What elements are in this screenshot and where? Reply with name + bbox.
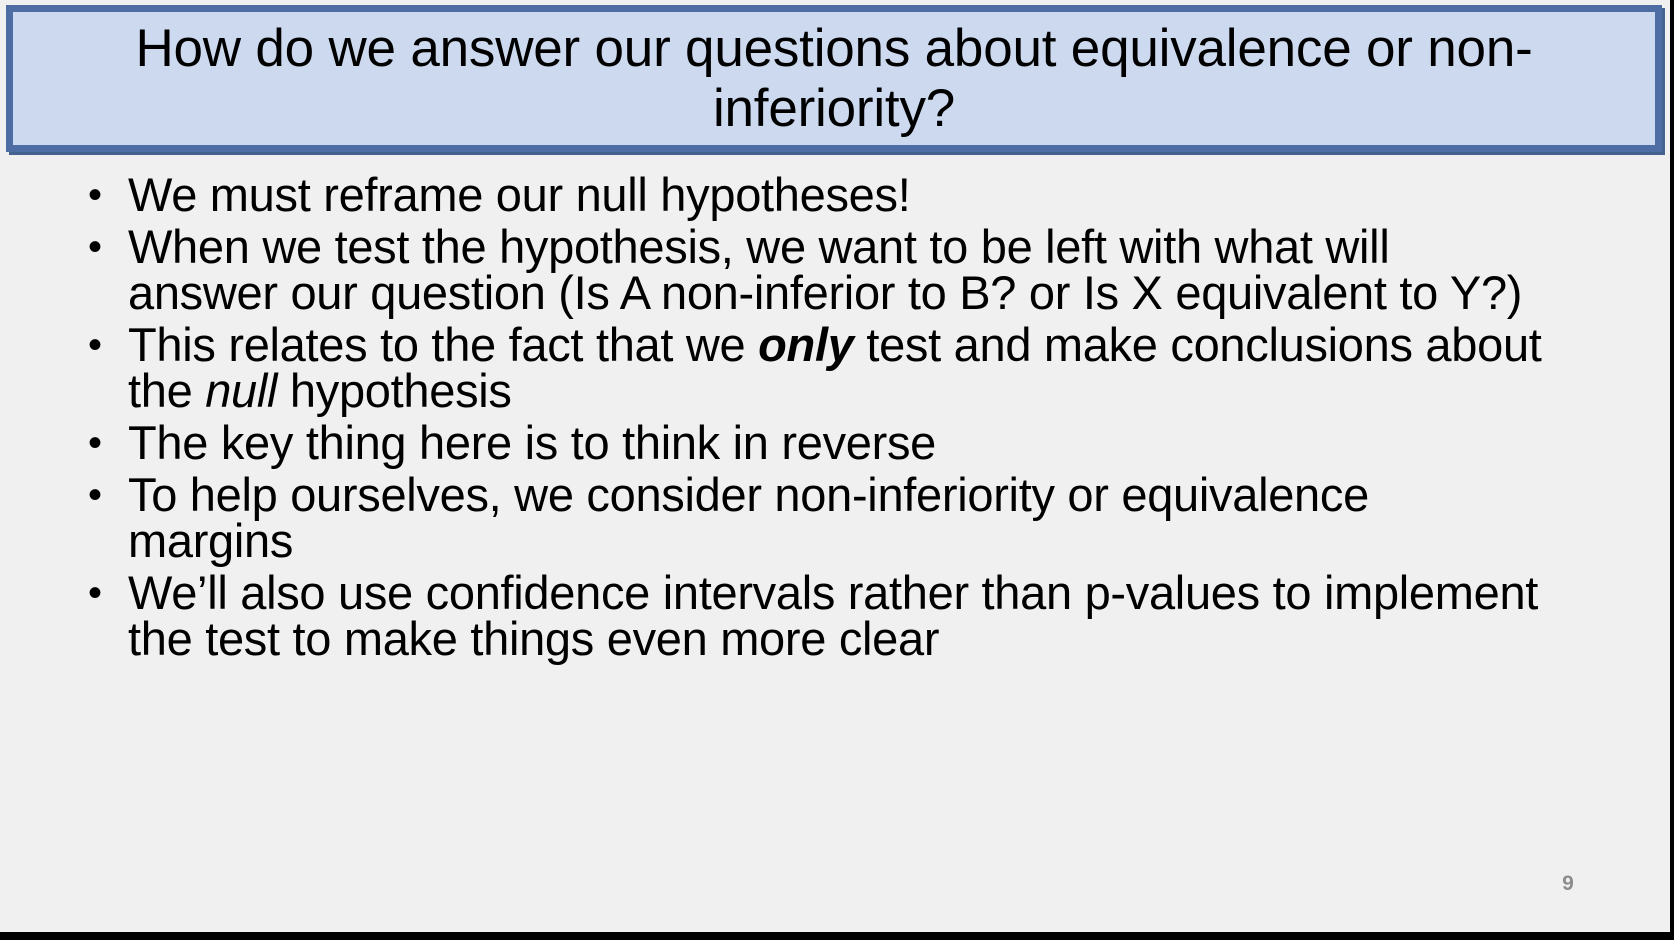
bullet-confidence-intervals: We’ll also use confidence intervals rath…: [128, 570, 1544, 662]
list-item: •The key thing here is to think in rever…: [84, 420, 1544, 466]
bullet-margins: To help ourselves, we consider non-infer…: [128, 472, 1544, 564]
bullet-point-icon: •: [88, 570, 102, 616]
emphasis-bold-italic: only: [758, 318, 853, 371]
bottom-edge-rule: [0, 932, 1674, 940]
slide-title-box: How do we answer our questions about equ…: [6, 5, 1662, 152]
bullet-point-icon: •: [88, 172, 102, 218]
bullet-point-icon: •: [88, 322, 102, 368]
page-number: 9: [1548, 872, 1588, 896]
list-item: •We must reframe our null hypotheses!: [84, 172, 1544, 218]
right-edge-rule: [1670, 0, 1674, 940]
text-run: When we test the hypothesis, we want to …: [128, 220, 1522, 319]
list-item: •To help ourselves, we consider non-infe…: [84, 472, 1544, 564]
bullet-test-hypothesis-left-with: When we test the hypothesis, we want to …: [128, 224, 1544, 316]
list-item: •We’ll also use confidence intervals rat…: [84, 570, 1544, 662]
bullet-think-in-reverse: The key thing here is to think in revers…: [128, 420, 1544, 466]
bullet-point-icon: •: [88, 224, 102, 270]
text-run: We’ll also use confidence intervals rath…: [128, 566, 1538, 665]
text-run: The key thing here is to think in revers…: [128, 416, 936, 469]
emphasis-italic: null: [205, 364, 277, 417]
list-item: •When we test the hypothesis, we want to…: [84, 224, 1544, 316]
list-item: •This relates to the fact that we only t…: [84, 322, 1544, 414]
text-run: To help ourselves, we consider non-infer…: [128, 468, 1369, 567]
text-run: hypothesis: [277, 364, 511, 417]
text-run: We must reframe our null hypotheses!: [128, 168, 910, 221]
bullet-only-test-null-hypothesis: This relates to the fact that we only te…: [128, 322, 1544, 414]
slide: How do we answer our questions about equ…: [0, 0, 1674, 940]
bullet-point-icon: •: [88, 472, 102, 518]
bullet-point-icon: •: [88, 420, 102, 466]
page-title: How do we answer our questions about equ…: [13, 19, 1655, 138]
bullet-list: •We must reframe our null hypotheses!•Wh…: [84, 172, 1544, 668]
bullet-reframe-null-hypotheses: We must reframe our null hypotheses!: [128, 172, 1544, 218]
